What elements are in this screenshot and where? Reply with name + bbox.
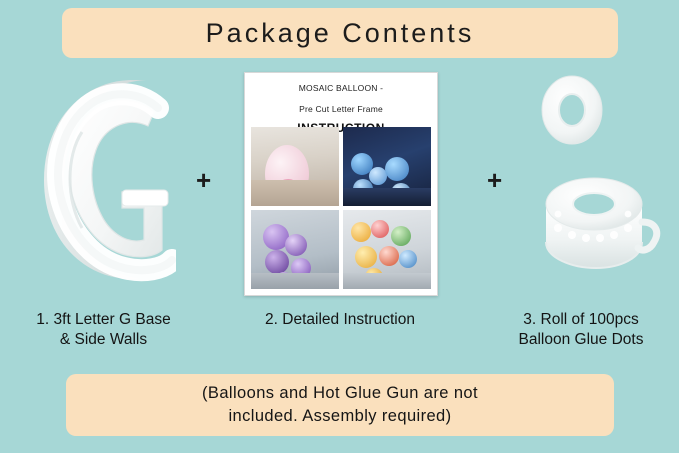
caption-item-1-line2: & Side Walls [6,330,201,350]
letter-g-icon [26,72,176,287]
caption-item-1: 1. 3ft Letter G Base & Side Walls [6,310,201,350]
sheet-photo-row-bottom [251,210,431,289]
glue-dot-rolls-icon [510,72,670,294]
photo-pink-balloon-letter [251,127,339,206]
photo-blue-balloon-letters [343,127,431,206]
footer-line-2: included. Assembly required) [228,405,451,428]
footer-banner: (Balloons and Hot Glue Gun are not inclu… [66,374,614,436]
sheet-photo-row-top [251,127,431,206]
header-banner: Package Contents [62,8,618,58]
caption-item-2: 2. Detailed Instruction [225,310,455,330]
caption-item-2-line1: 2. Detailed Instruction [225,310,455,330]
plus-separator-2: + [487,165,502,196]
caption-item-3: 3. Roll of 100pcs Balloon Glue Dots [485,310,677,350]
sheet-title-line1: MOSAIC BALLOON - [245,82,437,94]
glue-dots-image [510,72,670,294]
photo-rainbow-letter-balloons [343,210,431,289]
package-contents-infographic: Package Contents [0,0,679,453]
plus-separator-1: + [196,165,211,196]
footer-line-1: (Balloons and Hot Glue Gun are not [202,382,478,405]
caption-item-3-line1: 3. Roll of 100pcs [485,310,677,330]
caption-item-3-line2: Balloon Glue Dots [485,330,677,350]
sheet-title-line2: Pre Cut Letter Frame [245,103,437,115]
instruction-sheet-image: MOSAIC BALLOON - Pre Cut Letter Frame IN… [244,72,438,296]
letter-g-image [18,72,183,292]
sheet-photo-grid [251,127,431,289]
caption-item-1-line1: 1. 3ft Letter G Base [6,310,201,330]
page-title: Package Contents [206,18,475,49]
photo-purple-number-balloons [251,210,339,289]
